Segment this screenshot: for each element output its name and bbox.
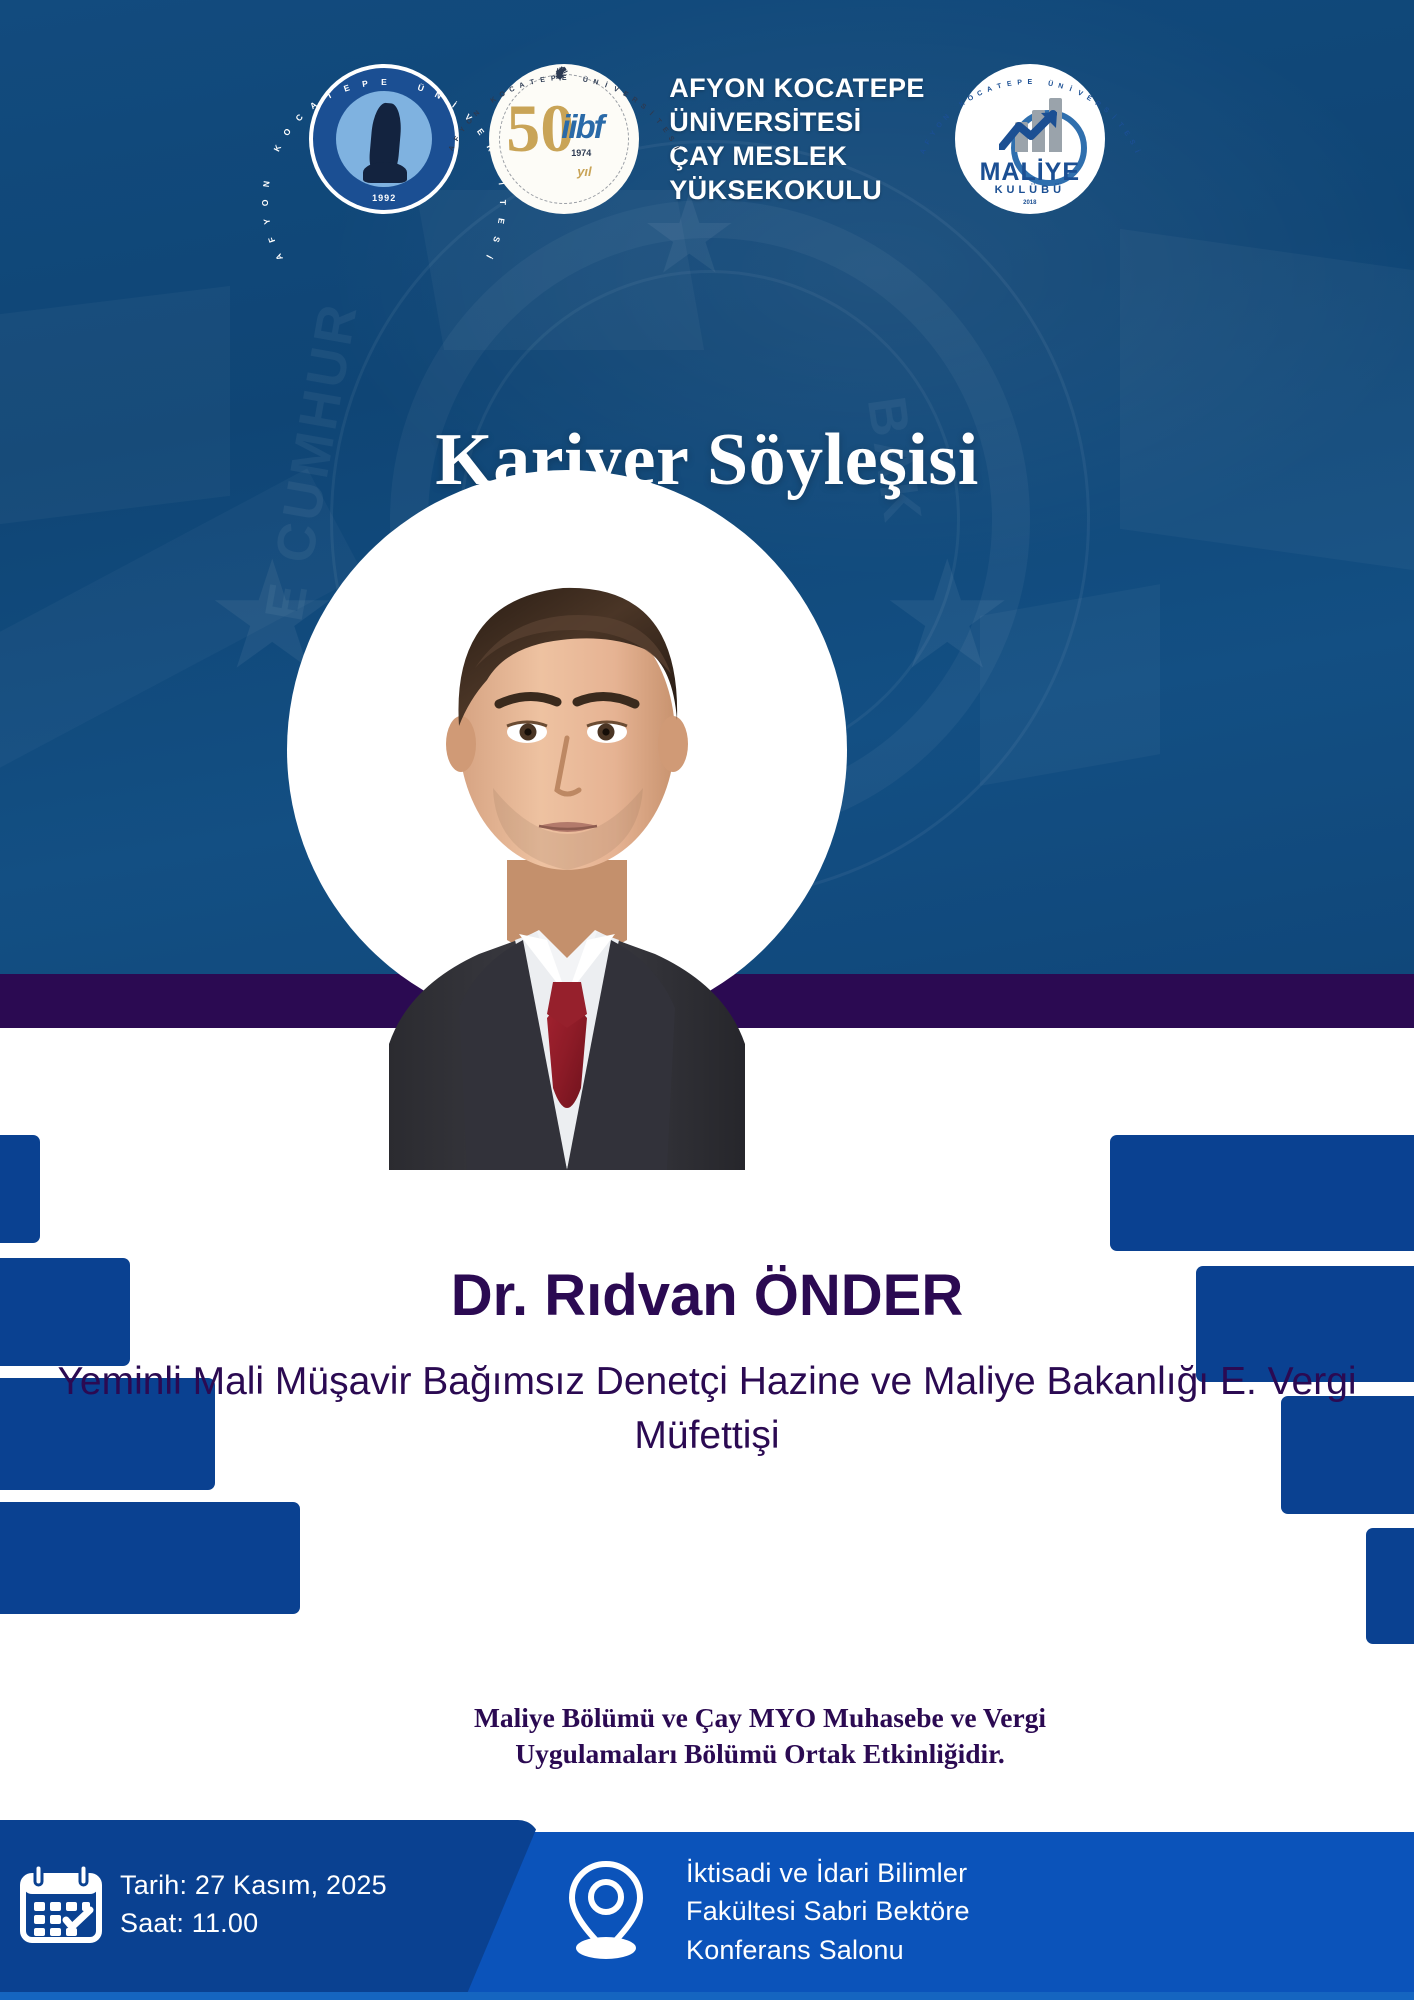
footer-bottom-strip <box>0 1992 1414 2000</box>
iibf-50-yil-logo-icon: 50 iibf 1974 yıl AFYON KOCATEPE ÜNİVERSİ… <box>489 64 639 214</box>
maliye-kulubu-logo-icon: AFYON KOCATEPE ÜNİVERSİTESİ MALİYE KULÜB… <box>955 64 1105 214</box>
emblem-arc-text-bottom: İKTİSADİ VE İDARİ BİLİMLER FAKÜLTESİ <box>489 64 639 214</box>
collaboration-note: Maliye Bölümü ve Çay MYO Muhasebe ve Ver… <box>430 1700 1090 1773</box>
calendar-icon <box>18 1862 104 1948</box>
speaker-portrait-image <box>347 488 787 1170</box>
speaker-name: Dr. Rıdvan ÖNDER <box>0 1262 1414 1329</box>
event-location: İktisadi ve İdari Bilimler Fakültesi Sab… <box>686 1854 970 1969</box>
emblem-year: 1992 <box>309 193 459 203</box>
afyon-kocatepe-universitesi-logo-icon: AFYON KOCATEPE ÜNİVERSİTESİ 1992 <box>309 64 459 214</box>
watermark-shape <box>980 584 1160 786</box>
speaker-titles: Yeminli Mali Müşavir Bağımsız Denetçi Ha… <box>0 1355 1414 1463</box>
map-pin-icon <box>560 1856 652 1960</box>
event-poster: ★ ★ ★ E CUMHUR BAK AFYON KOCATEPE ÜNİVER… <box>0 0 1414 2000</box>
event-date-time: Tarih: 27 Kasım, 2025 Saat: 11.00 <box>120 1866 387 1943</box>
emblem-arc-text: AFYON KOCATEPE ÜNİVERSİTESİ <box>309 64 459 214</box>
decor-bar <box>1366 1528 1414 1644</box>
decor-bar <box>0 1502 300 1614</box>
emblem-chart-graphic <box>985 90 1075 152</box>
header-title: AFYON KOCATEPE ÜNİVERSİTESİ ÇAY MESLEK Y… <box>669 71 925 207</box>
emblem-subtitle: KULÜBÜ <box>955 184 1105 196</box>
decor-bar <box>1110 1135 1414 1251</box>
emblem-year: 2018 <box>955 200 1105 206</box>
poster-header: AFYON KOCATEPE ÜNİVERSİTESİ 1992 50 iibf… <box>0 54 1414 224</box>
emblem-title: MALİYE <box>955 158 1105 187</box>
speaker-photo <box>287 470 847 1170</box>
watermark-shape <box>1120 229 1414 571</box>
decor-bar <box>0 1135 40 1243</box>
growth-arrow-icon <box>999 110 1065 150</box>
